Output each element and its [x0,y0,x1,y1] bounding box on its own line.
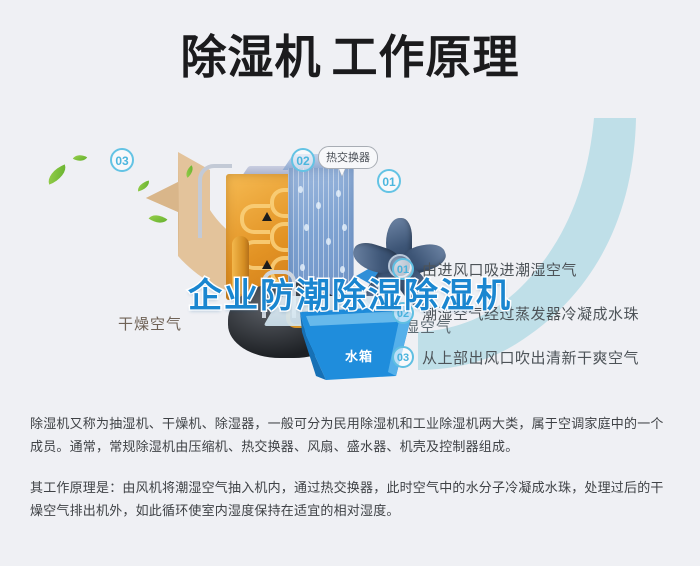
step-label: 从上部出风口吹出清新干爽空气 [422,347,639,368]
heat-exchanger-callout: 热交换器 [318,146,378,169]
page-title: 除湿机工作原理 [0,28,700,86]
water-tank-label: 水箱 [345,346,373,365]
diagram-badge-02: 02 [291,148,315,172]
flow-arrow-up-icon [262,212,272,221]
article-body: 除湿机又称为抽湿机、干燥机、除湿器，一般可分为民用除湿机和工业除湿机两大类，属于… [30,412,670,522]
paragraph-2: 其工作原理是：由风机将潮湿空气抽入机内，通过热交换器，此时空气中的水分子冷凝成水… [30,476,670,522]
page-title-main: 除湿机 [181,31,322,83]
page-root: 除湿机工作原理 干燥空气 潮湿空气 [0,0,700,566]
step-item: 03 从上部出风口吹出清新干爽空气 [392,342,682,372]
page-title-sub: 工作原理 [332,31,520,83]
diagram-badge-03: 03 [110,148,134,172]
step-number-badge: 03 [392,346,414,368]
dehumidifier-diagram: 干燥空气 潮湿空气 [0,110,700,395]
watermark-text: 企业防潮除湿除湿机 [0,268,700,317]
diagram-badge-01: 01 [377,169,401,193]
paragraph-1: 除湿机又称为抽湿机、干燥机、除湿器，一般可分为民用除湿机和工业除湿机两大类，属于… [30,412,670,458]
